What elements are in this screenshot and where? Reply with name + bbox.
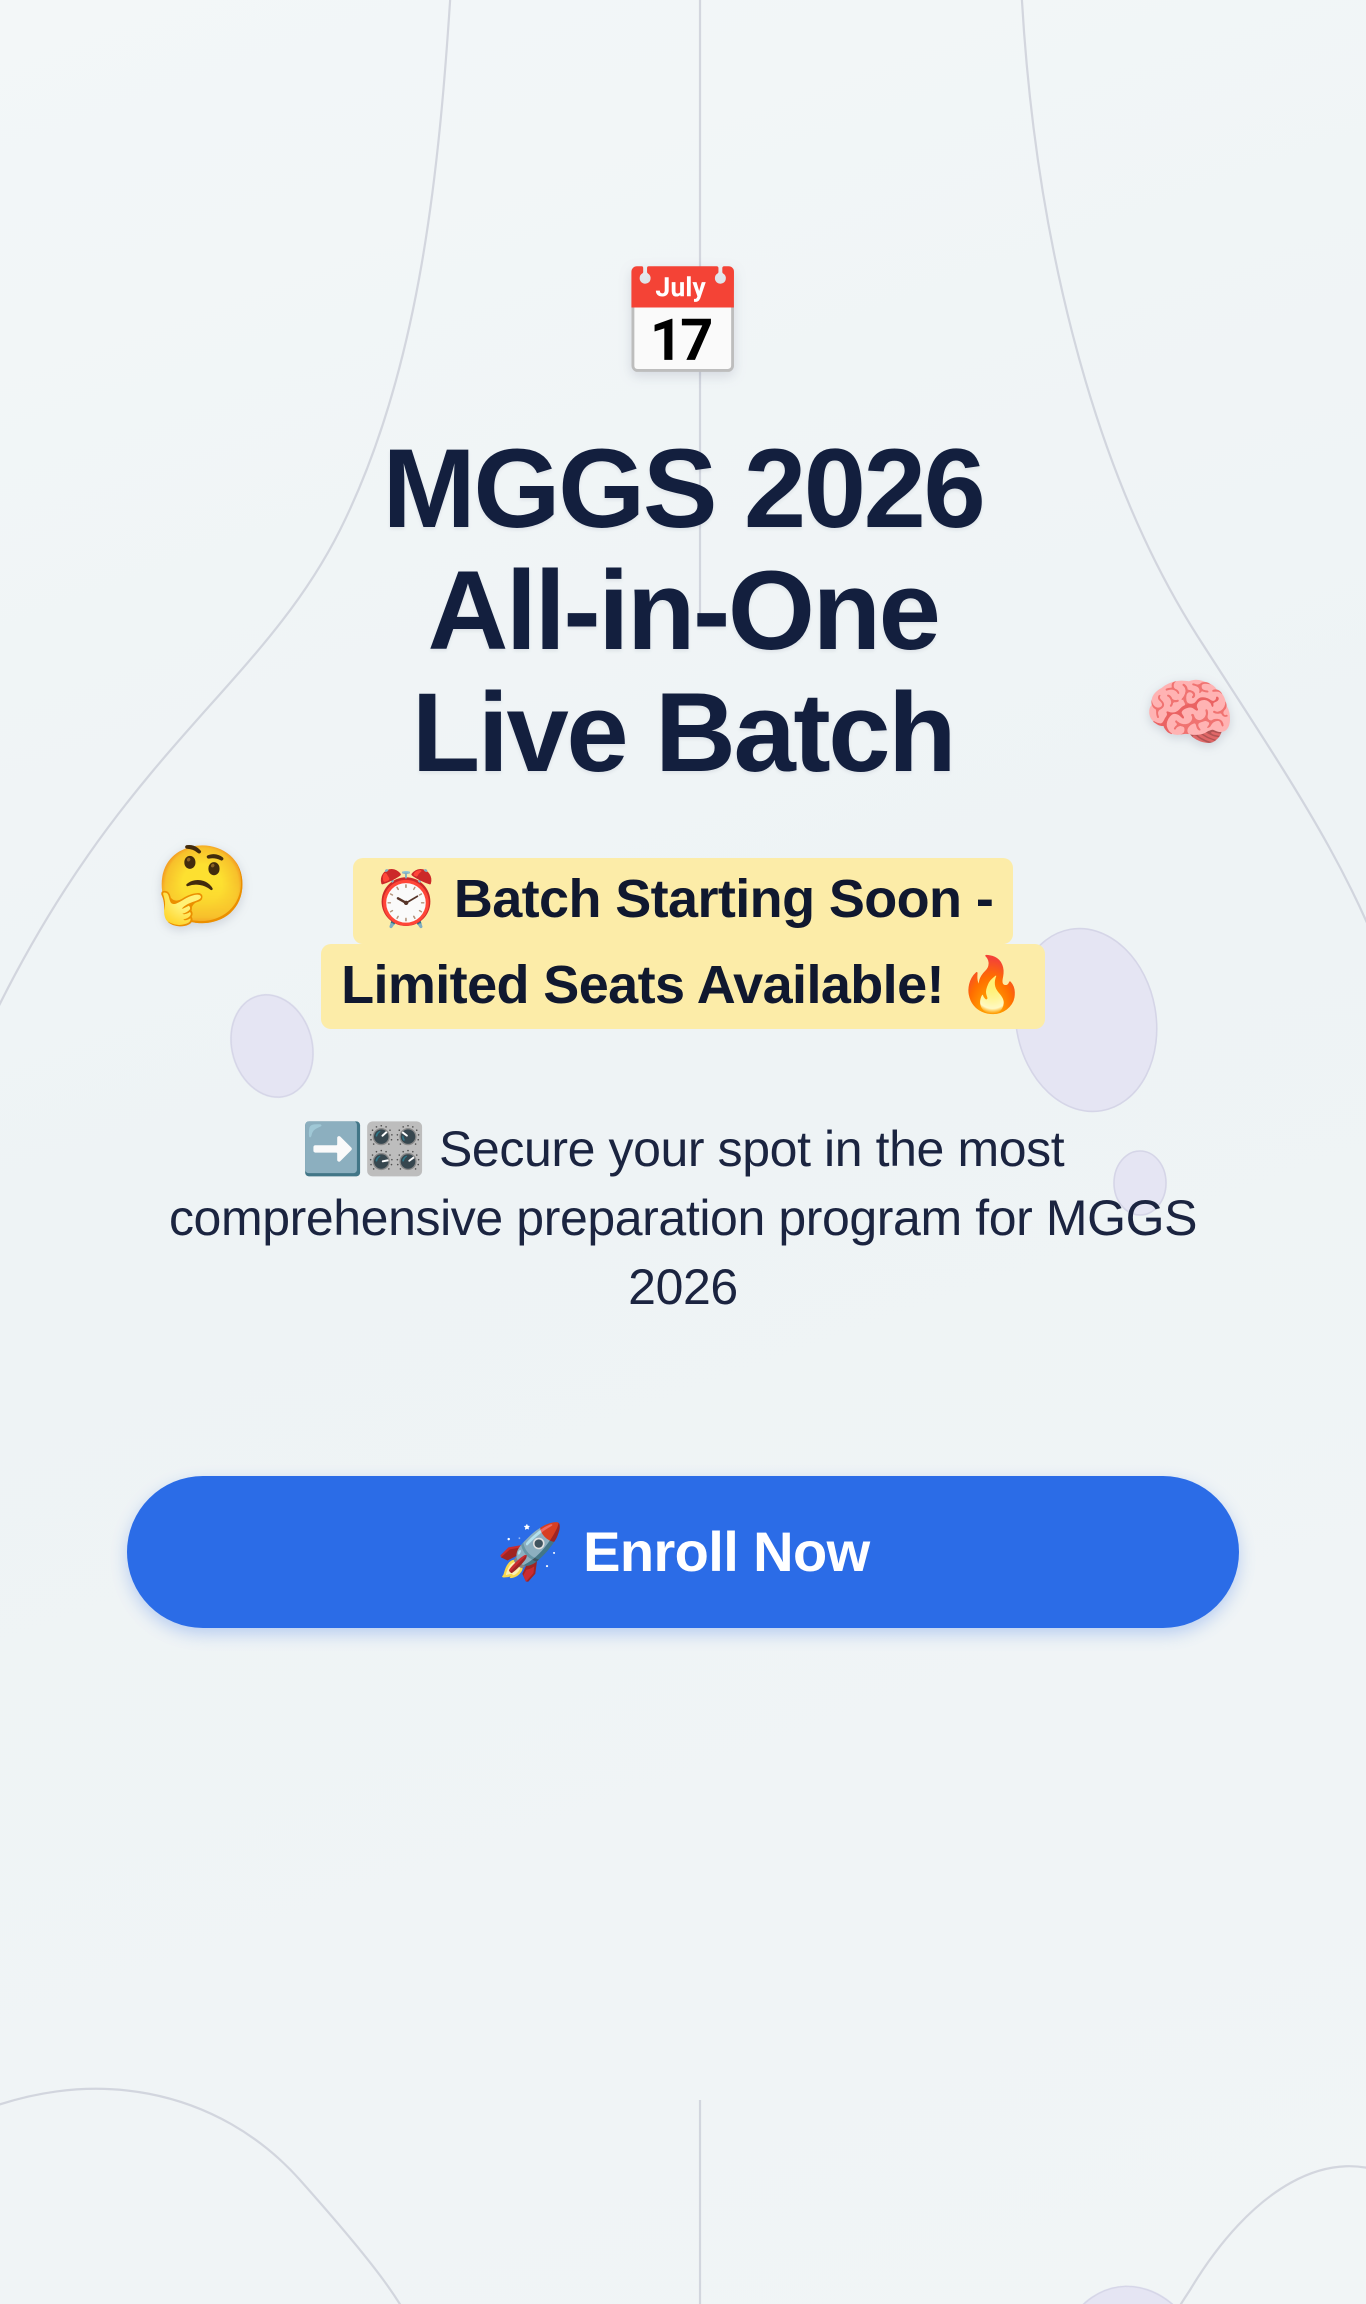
thinking-face-icon: 🤔 — [155, 848, 250, 924]
cta-row: 🚀 Enroll Now — [60, 1476, 1306, 1628]
urgency-banner-line-1: ⏰ Batch Starting Soon - — [353, 858, 1013, 943]
headline-block: MGGS 2026 All-in-One Live Batch 🧠 🤔 — [60, 428, 1306, 794]
poster-content: 📅 MGGS 2026 All-in-One Live Batch 🧠 🤔 ⏰ … — [0, 0, 1366, 2304]
headline-line-2: All-in-One — [427, 548, 938, 673]
rocket-icon: 🚀 — [496, 1525, 563, 1579]
headline-line-1: MGGS 2026 — [383, 426, 984, 551]
enroll-now-button[interactable]: 🚀 Enroll Now — [127, 1476, 1239, 1628]
page-title: MGGS 2026 All-in-One Live Batch — [383, 428, 984, 794]
arrow-control-knobs-icon: ➡️🎛️ — [302, 1121, 426, 1177]
urgency-banner-line-2: Limited Seats Available! 🔥 — [321, 944, 1045, 1029]
brain-gears-icon: 🧠 — [1144, 676, 1236, 750]
headline-line-3: Live Batch — [412, 670, 954, 795]
promo-poster: 📅 MGGS 2026 All-in-One Live Batch 🧠 🤔 ⏰ … — [0, 0, 1366, 2304]
description-text: ➡️🎛️ Secure your spot in the most compre… — [163, 1115, 1203, 1322]
calendar-check-icon: 📅 — [618, 272, 748, 376]
enroll-now-label: Enroll Now — [583, 1519, 869, 1584]
